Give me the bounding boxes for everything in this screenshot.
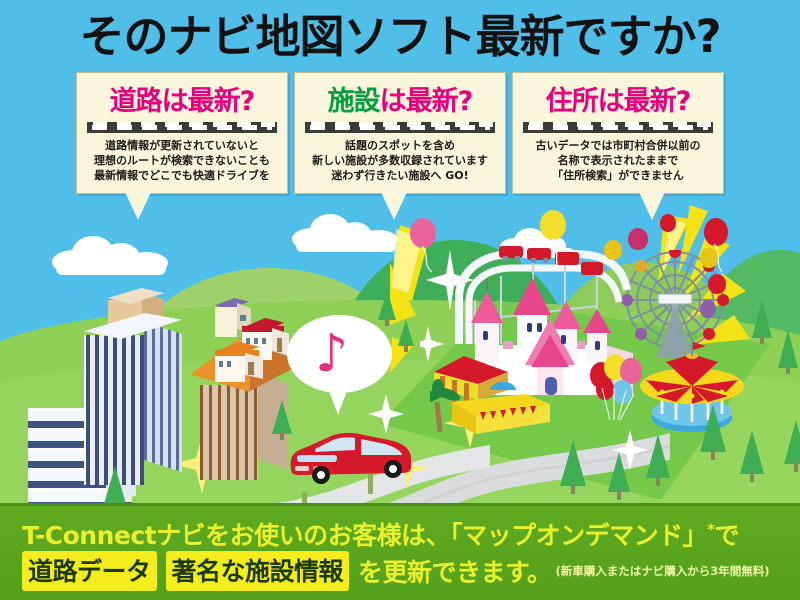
road-divider-icon bbox=[305, 122, 495, 133]
bubble-body-line: 話題のスポットを含め bbox=[295, 138, 505, 153]
bubble-body-line: 古いデータでは市町村合併以前の bbox=[513, 138, 723, 153]
banner-line-1: T-Connectナビをお使いのお客様は、「マップオンデマンド」*で bbox=[22, 516, 739, 552]
info-bubble-address: 住所は最新? 古いデータでは市町村合併以前の 名称で表示されたままで 「住所検索… bbox=[512, 72, 724, 194]
bubble-body-line: 「住所検索」ができません bbox=[513, 168, 723, 183]
bubble-tail bbox=[639, 192, 665, 220]
bubble-title-green: 施設 bbox=[328, 86, 380, 117]
info-bubble-roads: 道路は最新? 道路情報が更新されていないと 理想のルートが検索できないことも 最… bbox=[76, 72, 288, 194]
bubble-title-magenta: は最新? bbox=[380, 86, 473, 117]
circus-tent bbox=[430, 350, 560, 440]
red-car bbox=[285, 425, 415, 487]
bubble-body-line: 道路情報が更新されていないと bbox=[77, 138, 287, 153]
carousel bbox=[630, 340, 755, 440]
banner-note: (新車購入またはナビ購入から3年間無料) bbox=[556, 563, 770, 579]
banner-line-2: 道路データ 著名な施設情報 を更新できます。 (新車購入またはナビ購入から3年間… bbox=[22, 551, 770, 591]
bubble-body-line: 新しい施設が多数収録されています bbox=[295, 153, 505, 168]
bubble-body-line: 迷わず行きたい施設へ GO! bbox=[295, 168, 505, 183]
bubble-tail bbox=[125, 192, 151, 220]
bubble-body-line: 最新情報でどこでも快適ドライブを bbox=[77, 168, 287, 183]
bottom-banner: T-Connectナビをお使いのお客様は、「マップオンデマンド」*で 道路データ… bbox=[0, 503, 800, 600]
info-bubble-facilities: 施設は最新? 話題のスポットを含め 新しい施設が多数収録されています 迷わず行き… bbox=[294, 72, 506, 194]
road-divider-icon bbox=[523, 122, 713, 133]
chip-facility-info: 著名な施設情報 bbox=[166, 551, 350, 591]
house-orange bbox=[215, 342, 277, 397]
bubble-body-address: 古いデータでは市町村合併以前の 名称で表示されたままで 「住所検索」ができません bbox=[513, 138, 723, 183]
music-note-icon: ♪ bbox=[315, 328, 348, 380]
bubble-tail bbox=[381, 192, 407, 220]
banner-line2-tail: を更新できます。 bbox=[358, 553, 552, 589]
banner-image: ♪ bbox=[0, 0, 800, 600]
bubble-title-magenta: 住所は最新? bbox=[546, 86, 691, 117]
bubble-title-address: 住所は最新? bbox=[513, 79, 723, 118]
banner-line1-prefix: T-Connectナビをお使いのお客様は、「マップオンデマンド」 bbox=[22, 521, 707, 550]
road-divider-icon bbox=[87, 122, 277, 133]
bubble-title-facilities: 施設は最新? bbox=[295, 79, 505, 118]
bubble-body-roads: 道路情報が更新されていないと 理想のルートが検索できないことも 最新情報でどこで… bbox=[77, 138, 287, 183]
bubble-title-magenta: 道路は最新? bbox=[110, 86, 255, 117]
banner-line1-suffix: で bbox=[714, 521, 739, 550]
page-title: そのナビ地図ソフト最新ですか? bbox=[0, 8, 800, 66]
bubble-body-line: 理想のルートが検索できないことも bbox=[77, 153, 287, 168]
bubble-title-roads: 道路は最新? bbox=[77, 79, 287, 118]
bubble-body-facilities: 話題のスポットを含め 新しい施設が多数収録されています 迷わず行きたい施設へ G… bbox=[295, 138, 505, 183]
chip-road-data: 道路データ bbox=[22, 551, 157, 591]
bubble-body-line: 名称で表示されたままで bbox=[513, 153, 723, 168]
cloud-left bbox=[52, 234, 172, 274]
